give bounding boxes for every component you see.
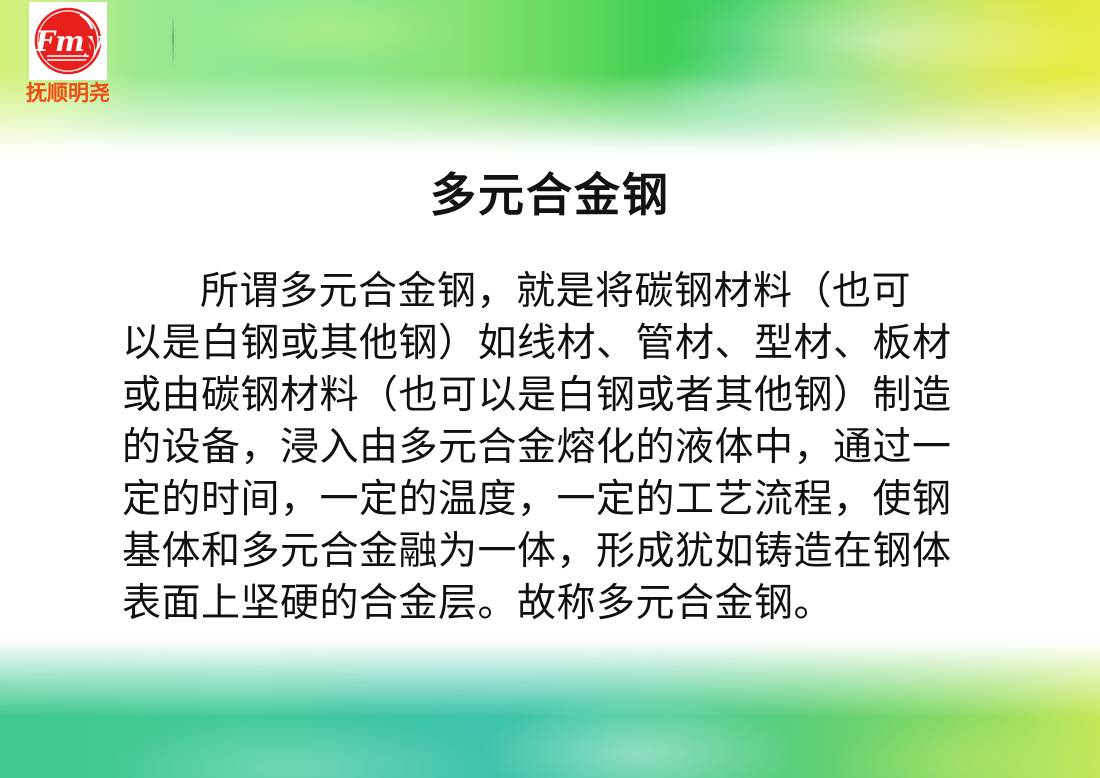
top-band-streak-artifact xyxy=(172,16,174,68)
bottom-band-wisp-overlay xyxy=(0,633,1100,778)
company-logo-block: Fmy 抚顺明尧 xyxy=(12,2,124,105)
logo-mark: Fmy xyxy=(29,2,107,80)
top-band-wisp-overlay xyxy=(0,0,1100,160)
body-line: 定的时间，一定的温度，一定的工艺流程，使钢 xyxy=(122,474,1022,526)
presentation-slide: Fmy 抚顺明尧 多元合金钢 所谓多元合金钢，就是将碳钢材料（也可 以是白钢或其… xyxy=(0,0,1100,778)
body-line: 的设备，浸入由多元合金熔化的液体中，通过一 xyxy=(122,422,1022,474)
bottom-decorative-band xyxy=(0,633,1100,778)
body-line: 以是白钢或其他钢）如线材、管材、型材、板材 xyxy=(122,318,1022,370)
body-line: 表面上坚硬的合金层。故称多元合金钢。 xyxy=(122,578,1022,630)
body-line: 所谓多元合金钢，就是将碳钢材料（也可 xyxy=(122,266,1022,318)
company-name-label: 抚顺明尧 xyxy=(12,82,124,105)
fmy-circle-logo-icon: Fmy xyxy=(31,4,105,78)
slide-body-text: 所谓多元合金钢，就是将碳钢材料（也可 以是白钢或其他钢）如线材、管材、型材、板材… xyxy=(122,266,1022,630)
page-title: 多元合金钢 xyxy=(0,168,1100,223)
body-line: 或由碳钢材料（也可以是白钢或者其他钢）制造 xyxy=(122,370,1022,422)
body-line: 基体和多元合金融为一体，形成犹如铸造在钢体 xyxy=(122,526,1022,578)
top-decorative-band xyxy=(0,0,1100,160)
